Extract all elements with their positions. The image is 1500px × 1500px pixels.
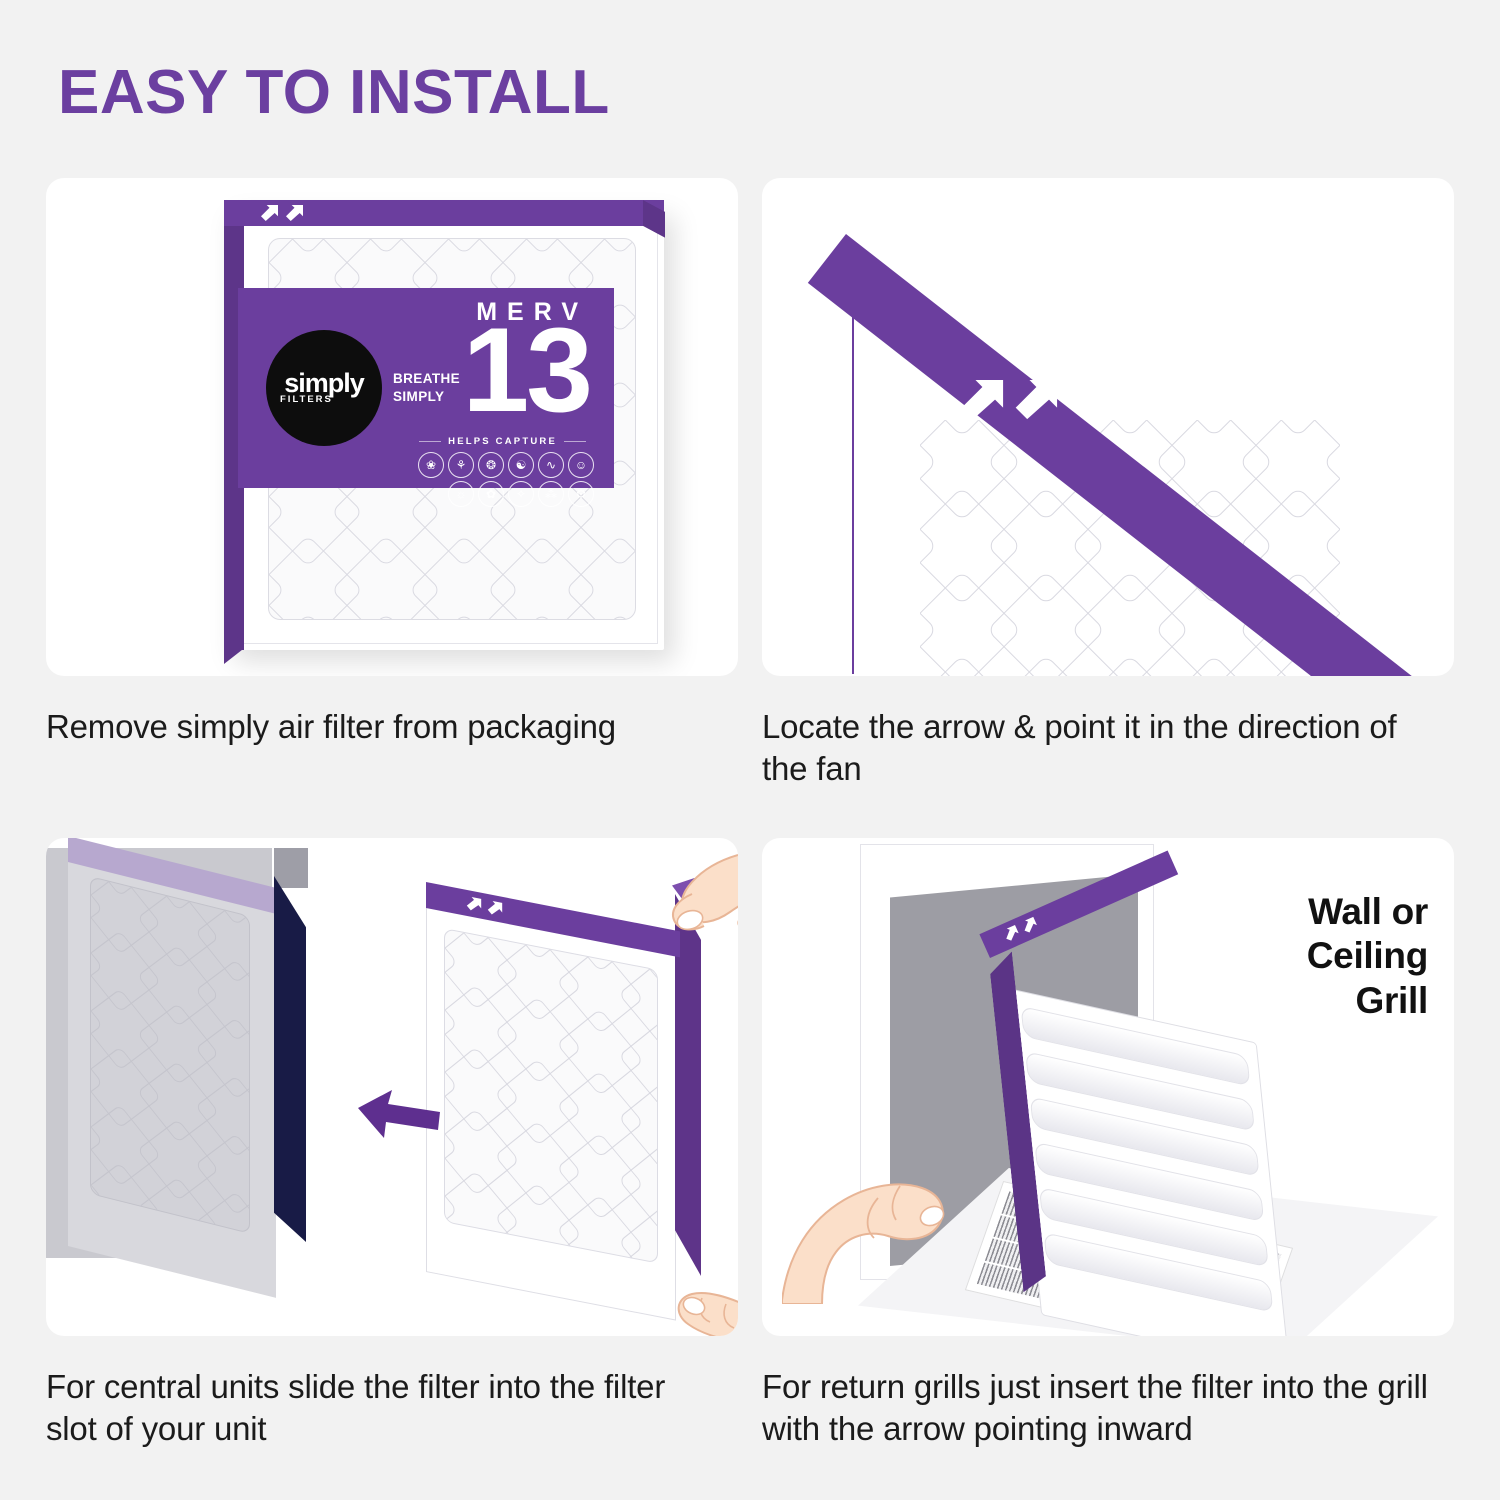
central-unit-dark-edge — [274, 876, 306, 1242]
annotation-line-2: Ceiling — [1307, 934, 1428, 978]
infographic-page: EASY TO INSTALL — [0, 0, 1500, 1500]
airflow-arrow-icon — [959, 377, 1005, 419]
annotation-line-3: Grill — [1307, 979, 1428, 1023]
filter-vertical-edge — [852, 274, 854, 674]
brand-tagline: BREATHE SIMPLY — [393, 370, 460, 406]
brand-subtitle: FILTERS — [280, 394, 333, 405]
step-card-3: For central units slide the filter into … — [46, 838, 738, 1449]
pleat-diamond — [1155, 655, 1274, 676]
step-3-caption: For central units slide the filter into … — [46, 1366, 716, 1449]
bacteria-icon: ⚘ — [448, 452, 474, 478]
step-3-illustration — [46, 838, 738, 1336]
smoke-icon: ∿ — [538, 452, 564, 478]
pleat-diamond — [987, 655, 1106, 676]
capture-icon-row-2: ☼ ✿ ✧ ⁂ ⚙ — [404, 481, 594, 507]
filter-package-illustration: simply FILTERS BREATHE SIMPLY MERV 13 HE… — [46, 178, 738, 676]
pollen-grain-icon: ✿ — [478, 481, 504, 507]
filter-louvered-face — [1008, 988, 1290, 1336]
brand-name: simply — [284, 371, 364, 395]
dust-mite-icon: ☼ — [448, 481, 474, 507]
direction-arrow-icon — [358, 1090, 440, 1142]
step-2-illustration — [762, 178, 1454, 676]
package-top-band — [224, 200, 664, 226]
airflow-arrow-icon-group — [260, 204, 304, 221]
tagline-line-1: BREATHE — [393, 370, 460, 388]
mold-spore-icon: ❂ — [478, 452, 504, 478]
annotation-line-1: Wall or — [1307, 890, 1428, 934]
step-4-caption: For return grills just insert the filter… — [762, 1366, 1432, 1449]
virus-icon: ⚙ — [568, 481, 594, 507]
package-label-band: simply FILTERS BREATHE SIMPLY MERV 13 HE… — [238, 288, 614, 488]
brand-logo-badge: simply FILTERS — [266, 330, 382, 446]
rule-right — [564, 441, 586, 442]
airflow-arrow-icon — [1013, 377, 1059, 419]
filter-being-inserted — [994, 988, 1274, 1318]
step-4-illustration: Wall or Ceiling Grill — [762, 838, 1454, 1336]
airflow-arrow-icon — [260, 204, 279, 221]
airflow-arrow-icon — [466, 895, 482, 913]
step-card-1: simply FILTERS BREATHE SIMPLY MERV 13 HE… — [46, 178, 738, 748]
hand-top-icon — [606, 848, 738, 1008]
pleat-diamond — [1071, 655, 1190, 676]
central-unit-side — [274, 848, 308, 888]
helps-capture-label: HELPS CAPTURE — [448, 436, 557, 447]
step-card-4: Wall or Ceiling Grill For return grills … — [762, 838, 1454, 1449]
grill-annotation-label: Wall or Ceiling Grill — [1307, 890, 1428, 1023]
cat-allergen-icon: ☺ — [568, 452, 594, 478]
step-card-2: Locate the arrow & point it in the direc… — [762, 178, 1454, 789]
step-1-caption: Remove simply air filter from packaging — [46, 706, 716, 748]
merv-rating-value: 13 — [463, 310, 590, 430]
page-title: EASY TO INSTALL — [58, 62, 610, 124]
step-1-illustration: simply FILTERS BREATHE SIMPLY MERV 13 HE… — [46, 178, 738, 676]
airflow-arrow-icon-group — [466, 895, 503, 917]
capture-icon-row-1: ❀ ⚘ ❂ ☯ ∿ ☺ — [404, 452, 594, 478]
helps-capture-heading: HELPS CAPTURE — [419, 436, 586, 447]
steps-grid: simply FILTERS BREATHE SIMPLY MERV 13 HE… — [46, 178, 1454, 1468]
central-unit-filter-slot — [90, 876, 250, 1234]
airflow-arrow-icon — [487, 899, 503, 917]
tagline-line-2: SIMPLY — [393, 388, 460, 406]
lint-icon: ✧ — [508, 481, 534, 507]
hand-bottom-icon — [606, 1230, 738, 1336]
capture-icons: ❀ ⚘ ❂ ☯ ∿ ☺ ☼ ✿ ✧ ⁂ — [404, 452, 594, 510]
particle-icon: ⁂ — [538, 481, 564, 507]
rule-left — [419, 441, 441, 442]
airflow-arrow-icon — [1020, 916, 1039, 935]
hand-icon — [782, 1124, 1012, 1304]
pet-dander-icon: ☯ — [508, 452, 534, 478]
airflow-arrow-icon-group — [959, 377, 1059, 419]
airflow-arrow-icon — [1002, 924, 1021, 943]
step-2-caption: Locate the arrow & point it in the direc… — [762, 706, 1432, 789]
airflow-arrow-icon — [285, 204, 304, 221]
pollen-icon: ❀ — [418, 452, 444, 478]
